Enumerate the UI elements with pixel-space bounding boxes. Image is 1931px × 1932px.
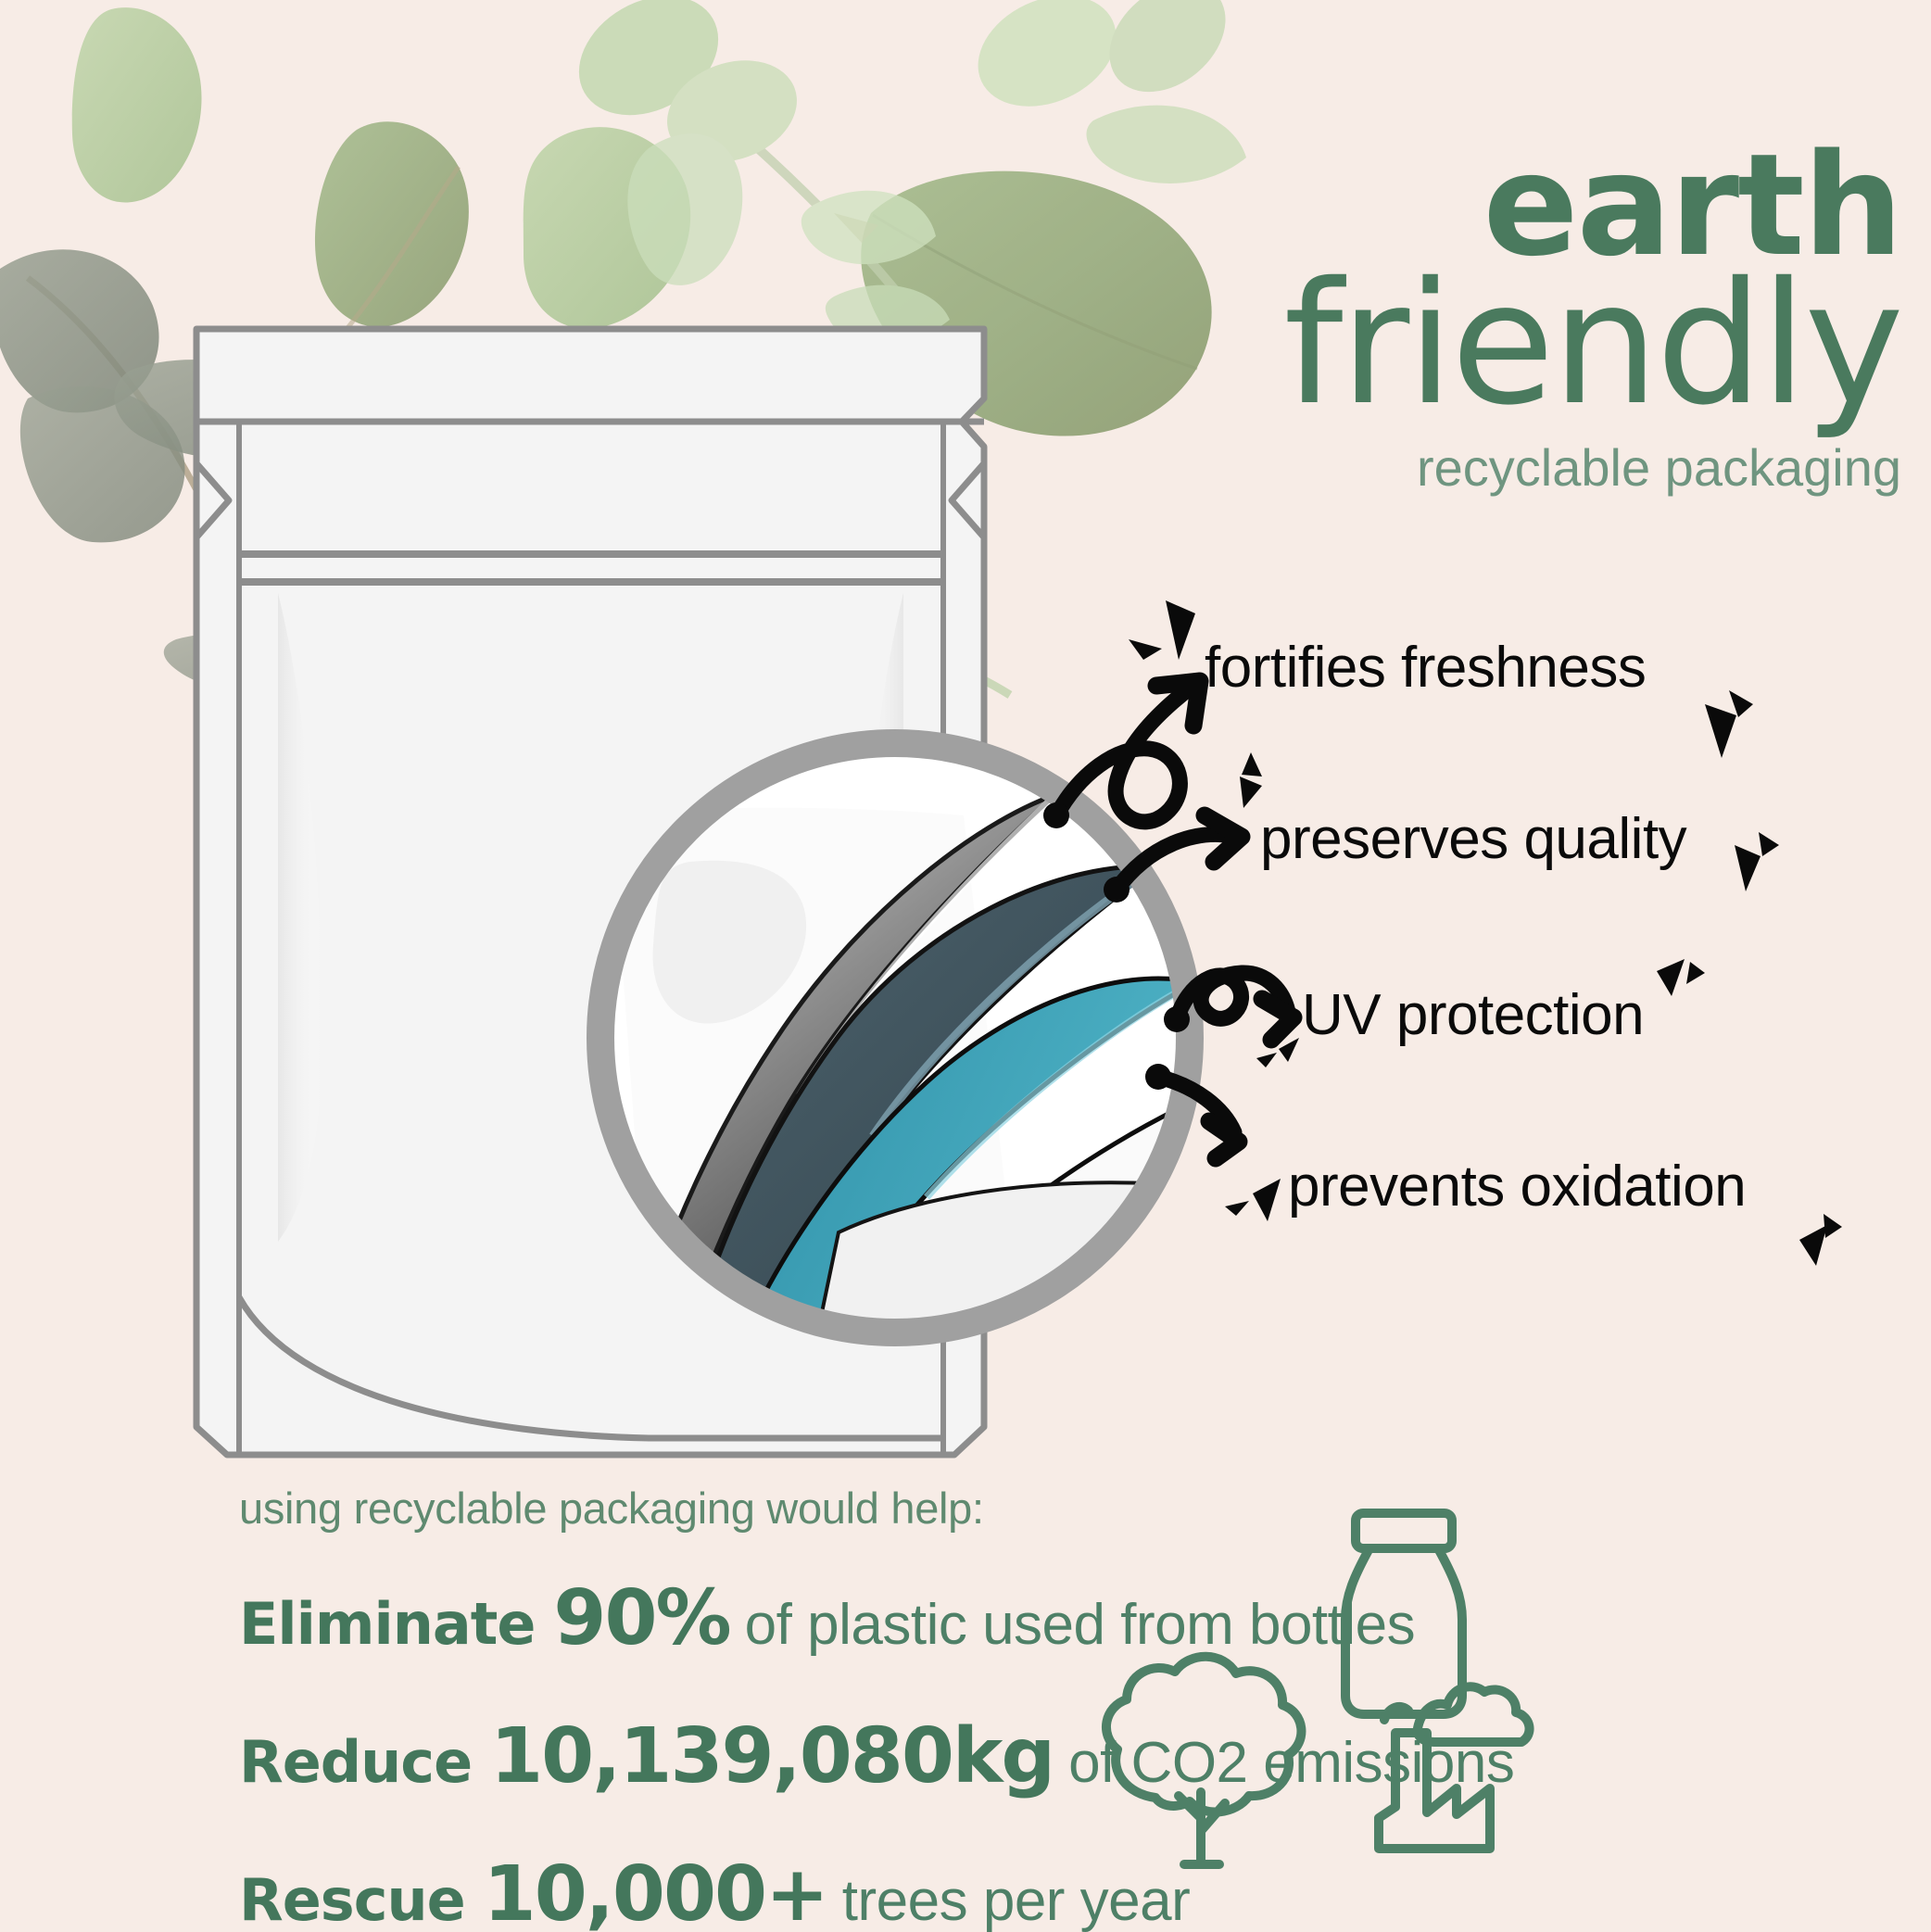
stat-number: 10,139,080kg (490, 1712, 1054, 1800)
eucalyptus-sprig-left (0, 249, 398, 838)
stat-number: 90% (553, 1574, 729, 1662)
curved-arrow-icon (1117, 834, 1232, 890)
stat-number: 10,000+ (484, 1850, 827, 1932)
stat-tail: of plastic used from bottles (745, 1592, 1415, 1658)
feature-label-uv-protection: UV protection (1302, 982, 1644, 1048)
stat-tail: of CO2 emissions (1068, 1730, 1514, 1796)
curved-arrow-icon (1158, 1077, 1234, 1132)
stat-verb: Reduce (239, 1728, 472, 1796)
arrow-anchor-dots (1043, 802, 1190, 1090)
loop-arrow-icon (1177, 973, 1288, 1019)
stat-verb: Rescue (239, 1866, 465, 1932)
stat-row-reduce: Reduce 10,139,080kg of CO2 emissions (239, 1712, 1629, 1800)
curly-arrow-icon (1056, 684, 1195, 822)
magnifier-circle (600, 743, 1271, 1371)
feature-label-prevents-oxidation: prevents oxidation (1288, 1154, 1746, 1219)
page-title-secondary: friendly (1142, 267, 1901, 422)
feature-label-preserves-quality: preserves quality (1260, 806, 1686, 872)
stat-verb: Eliminate (239, 1590, 535, 1658)
stat-tail: trees per year (842, 1868, 1191, 1932)
stats-intro-text: using recyclable packaging would help: (239, 1483, 1629, 1534)
infographic-poster: earth friendly recyclable packaging fort… (0, 0, 1931, 1932)
stat-row-eliminate: Eliminate 90% of plastic used from bottl… (239, 1574, 1629, 1662)
feature-label-fortifies-freshness: fortifies freshness (1205, 635, 1646, 701)
stand-up-pouch (196, 329, 984, 1455)
stats-block: using recyclable packaging would help: E… (239, 1483, 1629, 1932)
stat-row-rescue: Rescue 10,000+ trees per year (239, 1850, 1629, 1932)
sage-vine (278, 559, 1010, 703)
leaf-cluster-upper-left (72, 7, 690, 610)
title-block: earth friendly recyclable packaging (1142, 139, 1901, 498)
page-subtitle: recyclable packaging (1142, 437, 1901, 498)
